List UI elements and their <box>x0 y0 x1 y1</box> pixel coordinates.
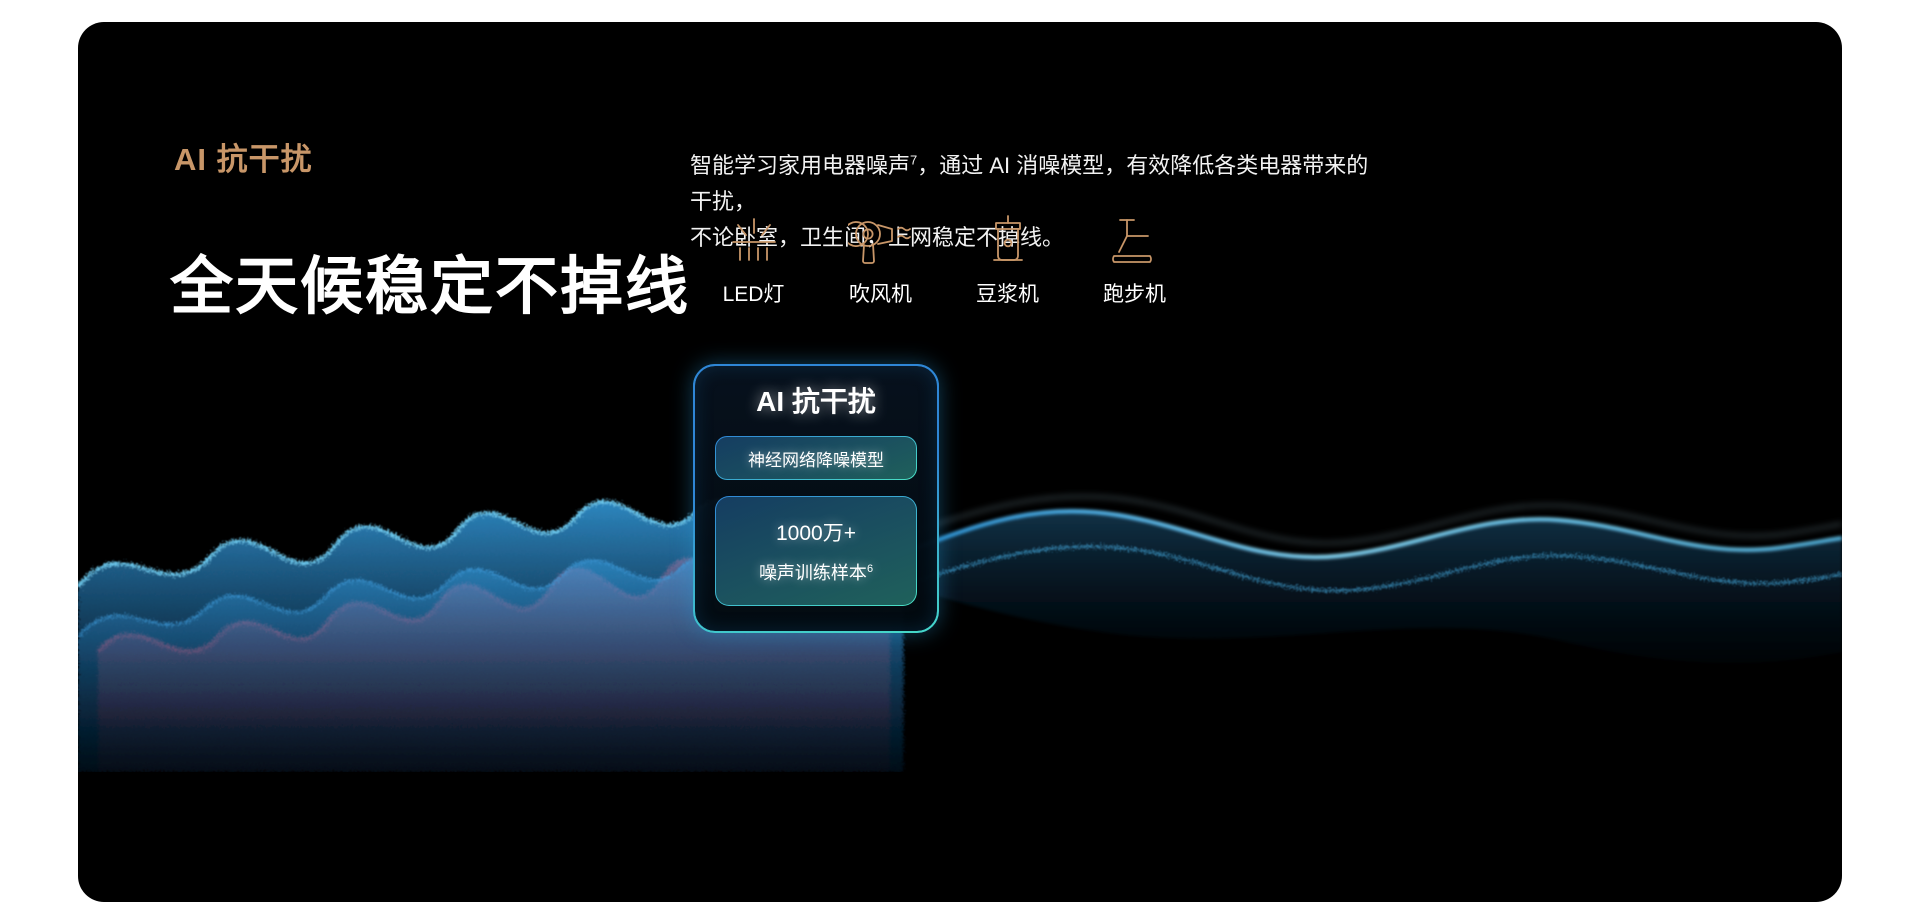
treadmill-icon <box>1104 204 1166 266</box>
appliance-label: 跑步机 <box>1103 278 1166 308</box>
ai-antiinterference-card: AI 抗干扰 神经网络降噪模型 1000万+ 噪声训练样本6 <box>693 364 939 633</box>
stat-label: 噪声训练样本6 <box>759 559 873 585</box>
stat-value: 1000万+ <box>776 517 856 547</box>
ai-antiinterference-panel: AI 抗干扰 全天候稳定不掉线 智能学习家用电器噪声7，通过 AI 消噪模型，有… <box>78 22 1842 902</box>
stat-label-text: 噪声训练样本 <box>759 563 867 583</box>
neural-model-label: 神经网络降噪模型 <box>748 446 884 471</box>
section-eyebrow: AI 抗干扰 <box>174 134 313 179</box>
appliance-item-led-light: LED灯 <box>690 204 817 308</box>
appliance-label: 吹风机 <box>849 278 912 308</box>
page-title: 全天候稳定不掉线 <box>170 236 690 327</box>
appliance-item-soy-milk-maker: 豆浆机 <box>944 204 1071 308</box>
led-light-icon <box>723 204 785 266</box>
card-title: AI 抗干扰 <box>695 380 937 420</box>
soy-milk-maker-icon <box>983 204 1033 266</box>
hair-dryer-icon <box>848 204 914 266</box>
signal-wave-visualization <box>78 352 1842 772</box>
appliance-item-treadmill: 跑步机 <box>1071 204 1198 308</box>
appliance-icon-row: LED灯 吹风机 <box>690 204 1198 308</box>
appliance-label: LED灯 <box>723 278 785 308</box>
appliance-item-hair-dryer: 吹风机 <box>817 204 944 308</box>
screenshot-root: AI 抗干扰 全天候稳定不掉线 智能学习家用电器噪声7，通过 AI 消噪模型，有… <box>0 0 1920 918</box>
paragraph-line1-a: 智能学习家用电器噪声 <box>690 153 910 178</box>
footnote-marker-6: 6 <box>867 563 873 575</box>
training-sample-stat-box: 1000万+ 噪声训练样本6 <box>715 496 917 606</box>
appliance-label: 豆浆机 <box>976 278 1039 308</box>
neural-model-pill: 神经网络降噪模型 <box>715 436 917 480</box>
